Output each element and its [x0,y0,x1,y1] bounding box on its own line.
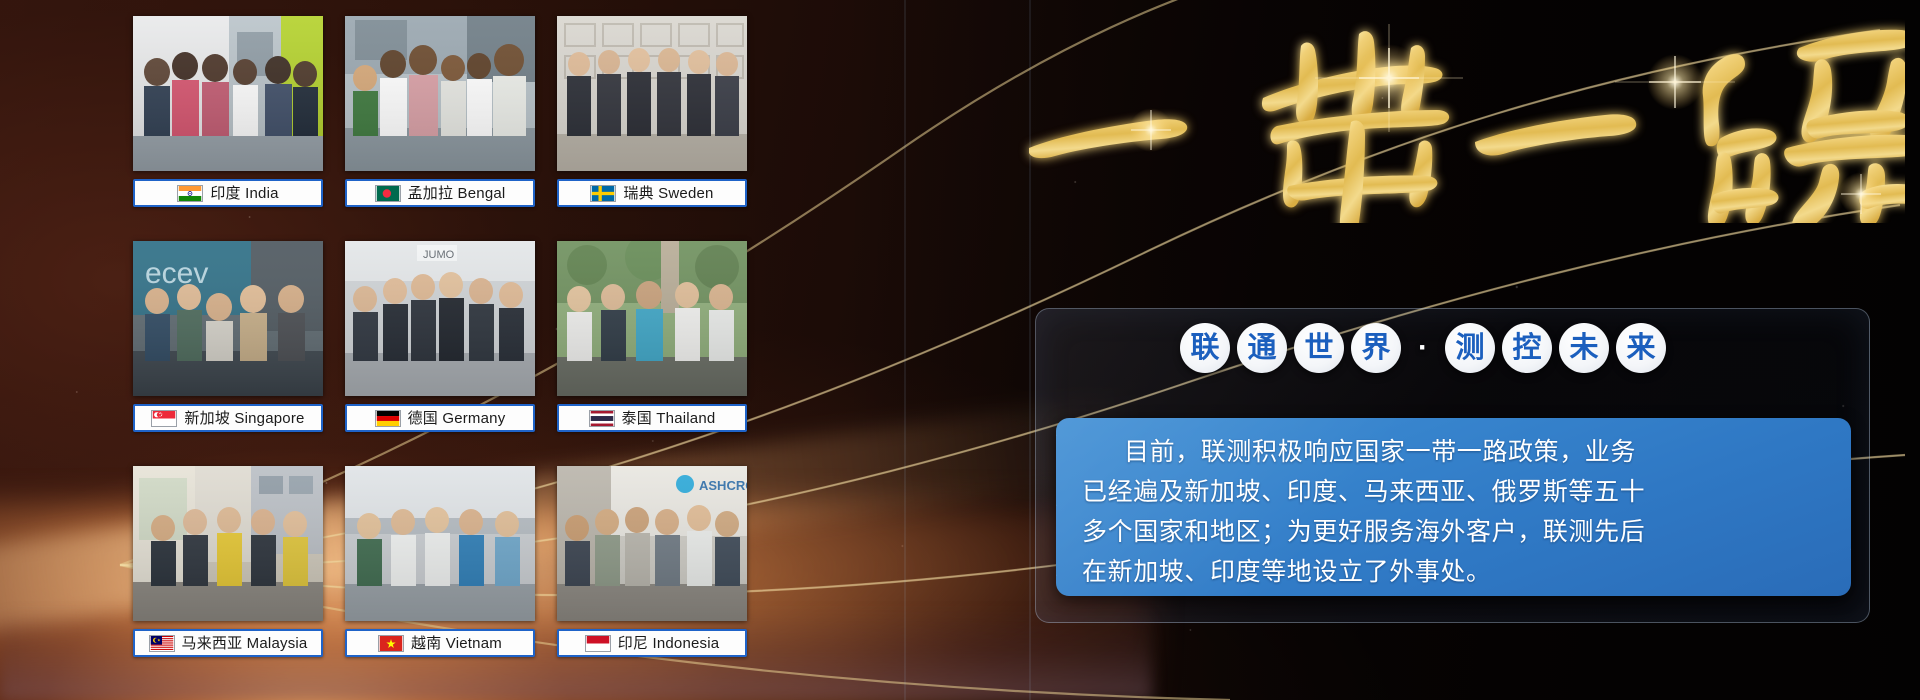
photo-image-indonesia: ASHCROFT [557,466,747,621]
photo-image-singapore: ecev [133,241,323,396]
photo-image-thailand [557,241,747,396]
photo-image-germany: JUMO [345,241,535,396]
photo-image-bengal [345,16,535,171]
photo-card[interactable]: JUMO 德国 [345,241,535,449]
caption-label: 瑞典 Sweden [623,186,713,201]
caption-label: 新加坡 Singapore [184,411,304,426]
flag-india-icon [177,185,203,202]
flag-indonesia-icon [585,635,611,652]
caption-malaysia: 马来西亚 Malaysia [133,629,323,657]
caption-indonesia: 印尼 Indonesia [557,629,747,657]
headline-calligraphy-belt-and-road [1015,8,1905,223]
photo-card[interactable]: 印度 India [133,16,323,224]
slogan-char: 联 [1180,323,1230,373]
photo-card[interactable]: ecev 新加坡 [133,241,323,449]
photo-image-sweden [557,16,747,171]
caption-label: 越南 Vietnam [411,636,502,651]
photo-image-malaysia [133,466,323,621]
caption-label: 孟加拉 Bengal [408,186,506,201]
caption-label: 印度 India [210,186,278,201]
photo-card[interactable]: 越南 Vietnam [345,466,535,674]
photo-card[interactable]: 泰国 Thailand [557,241,747,449]
caption-label: 印尼 Indonesia [618,636,720,651]
photo-card[interactable]: 马来西亚 Malaysia [133,466,323,674]
description-line: 联测，为国产仪表正名，为中国制造加分！ [1082,592,1825,596]
slogan-char: 控 [1502,323,1552,373]
slogan-char: 测 [1445,323,1495,373]
slogan-char: 通 [1237,323,1287,373]
flag-vietnam-icon [378,635,404,652]
caption-singapore: 新加坡 Singapore [133,404,323,432]
flag-bangladesh-icon [375,185,401,202]
slogan-char: 未 [1559,323,1609,373]
caption-vietnam: 越南 Vietnam [345,629,535,657]
flag-germany-icon [375,410,401,427]
photo-image-vietnam [345,466,535,621]
slogan-char: 世 [1294,323,1344,373]
country-photo-grid: 印度 India [133,16,753,684]
flag-singapore-icon [151,410,177,427]
description-line: 在新加坡、印度等地设立了外事处。 [1082,552,1825,592]
caption-sweden: 瑞典 Sweden [557,179,747,207]
slogan-char: 界 [1351,323,1401,373]
photo-card[interactable]: ASHCROFT [557,466,747,674]
description-line: 目前，联测积极响应国家一带一路政策，业务 [1082,432,1825,472]
photo-card[interactable]: 孟加拉 Bengal [345,16,535,224]
photo-image-india [133,16,323,171]
caption-label: 泰国 Thailand [622,411,716,426]
description-textbox: 目前，联测积极响应国家一带一路政策，业务 已经遍及新加坡、印度、马来西亚、俄罗斯… [1056,418,1851,596]
slogan-row: 联 通 世 界 · 测 控 未 来 [1180,323,1666,373]
caption-thailand: 泰国 Thailand [557,404,747,432]
banner-stage: 印度 India [0,0,1920,700]
flag-sweden-icon [590,185,616,202]
flag-malaysia-icon [149,635,175,652]
caption-india: 印度 India [133,179,323,207]
photo-card[interactable]: 瑞典 Sweden [557,16,747,224]
caption-germany: 德国 Germany [345,404,535,432]
caption-label: 马来西亚 Malaysia [182,636,308,651]
description-line: 多个国家和地区；为更好服务海外客户，联测先后 [1082,512,1825,552]
slogan-separator-dot: · [1408,323,1438,373]
flag-thailand-icon [589,410,615,427]
caption-bengal: 孟加拉 Bengal [345,179,535,207]
description-line: 已经遍及新加坡、印度、马来西亚、俄罗斯等五十 [1082,472,1825,512]
caption-label: 德国 Germany [408,411,506,426]
slogan-char: 来 [1616,323,1666,373]
